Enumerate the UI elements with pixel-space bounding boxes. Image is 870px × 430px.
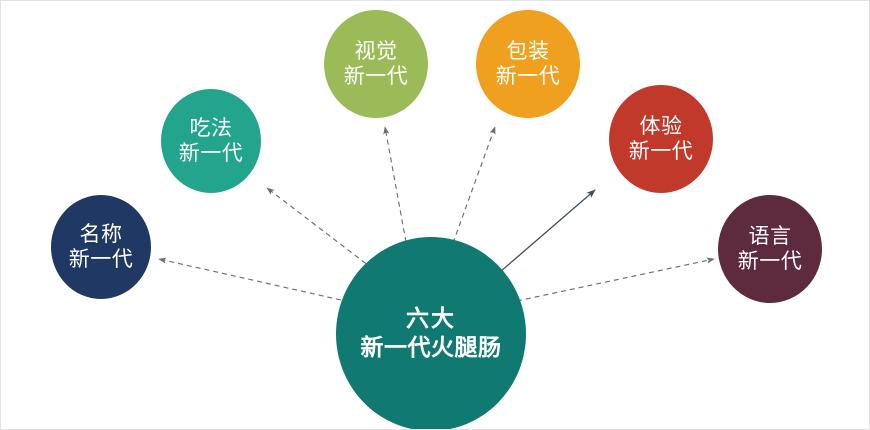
hub-node[interactable]: 六大新一代火腿肠 (336, 237, 526, 430)
name-node[interactable]: 名称新一代 (51, 195, 151, 299)
experience-node[interactable]: 体验新一代 (609, 85, 713, 193)
experience-node-line2: 新一代 (629, 139, 694, 164)
name-node-line2: 新一代 (69, 247, 134, 272)
edge-to-baozhuang (453, 127, 495, 243)
edge-to-yuyan (517, 259, 714, 301)
edge-to-chifa (267, 188, 373, 269)
eating-method-node-line1: 吃法 (190, 116, 233, 141)
packaging-node-line2: 新一代 (496, 64, 561, 89)
diagram-canvas: 名称新一代吃法新一代视觉新一代包装新一代体验新一代语言新一代六大新一代火腿肠 (0, 0, 870, 430)
packaging-node-line1: 包装 (507, 39, 550, 64)
packaging-node[interactable]: 包装新一代 (476, 10, 580, 118)
language-node-line2: 新一代 (738, 249, 803, 274)
language-node-line1: 语言 (749, 224, 792, 249)
language-node[interactable]: 语言新一代 (718, 195, 822, 303)
edge-to-shijue (385, 127, 406, 242)
visual-node[interactable]: 视觉新一代 (324, 10, 428, 118)
hub-node-line1: 六大 (406, 306, 456, 333)
visual-node-line2: 新一代 (344, 64, 409, 89)
hub-node-line2: 新一代火腿肠 (361, 335, 502, 362)
experience-node-line1: 体验 (640, 114, 683, 139)
name-node-line1: 名称 (80, 222, 123, 247)
visual-node-line1: 视觉 (355, 39, 398, 64)
edge-to-mingcheng (159, 259, 341, 300)
eating-method-node[interactable]: 吃法新一代 (161, 89, 261, 193)
eating-method-node-line2: 新一代 (179, 141, 244, 166)
edge-to-tiyan (493, 190, 595, 278)
